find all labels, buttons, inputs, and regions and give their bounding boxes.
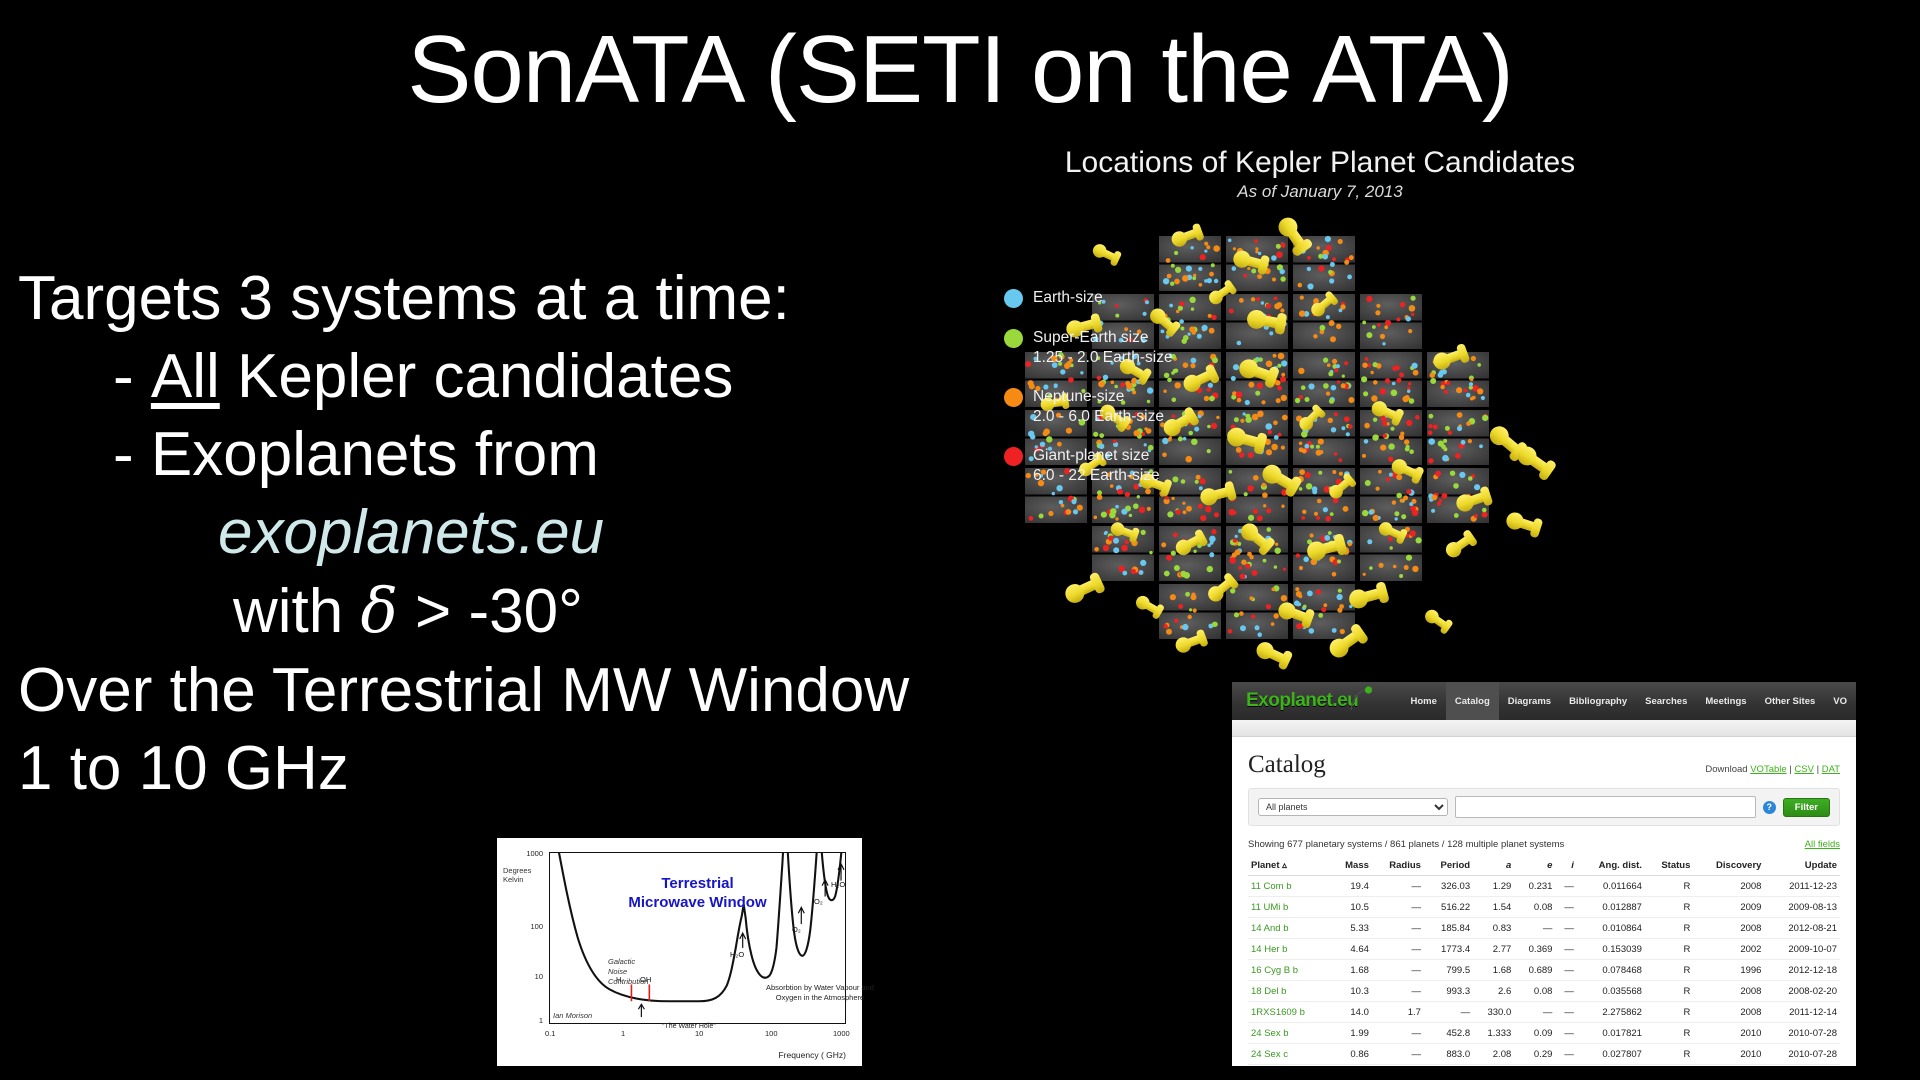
cell-value: — (1514, 918, 1555, 939)
legend-label-earth: Earth-size (1033, 288, 1103, 308)
x-tick-10: 10 (695, 1029, 703, 1038)
nav-item-other-sites[interactable]: Other Sites (1756, 682, 1825, 720)
x-tick-0.1: 0.1 (545, 1029, 555, 1038)
cell-value: — (1555, 1023, 1576, 1044)
y-tick-100: 100 (517, 922, 543, 931)
navbar-shadow (1232, 720, 1856, 737)
download-dat-link[interactable]: DAT (1822, 764, 1840, 775)
cell-value: 1.68 (1473, 960, 1514, 981)
col-planet[interactable]: Planet ▵ (1248, 856, 1331, 876)
cell-value: R (1645, 876, 1693, 897)
table-header-row: Planet ▵ Mass Radius Period a e i Ang. d… (1248, 856, 1840, 876)
planet-filter-select[interactable]: All planets (1258, 798, 1448, 816)
orbit-icon (1349, 686, 1375, 712)
terrestrial-microwave-window-chart: DegreesKelvin 1000 100 10 1 (497, 838, 862, 1066)
cell-value: 10.5 (1331, 897, 1372, 918)
cell-value: 452.8 (1424, 1023, 1473, 1044)
catalog-content: Catalog Download VOTable | CSV | DAT All… (1232, 737, 1856, 1065)
cell-value: 1773.4 (1424, 939, 1473, 960)
cell-value: R (1645, 939, 1693, 960)
results-summary-row: Showing 677 planetary systems / 861 plan… (1248, 839, 1840, 850)
cell-value: 2011-12-23 (1764, 876, 1840, 897)
all-fields-link[interactable]: All fields (1805, 839, 1840, 850)
x-tick-100: 100 (765, 1029, 778, 1038)
cell-value: 2010 (1693, 1023, 1764, 1044)
download-label: Download (1705, 764, 1747, 775)
delta-symbol: δ (360, 574, 397, 647)
help-icon[interactable]: ? (1763, 801, 1776, 814)
cell-value: R (1645, 1002, 1693, 1023)
annotation-h2o-22ghz: H₂O (730, 950, 744, 959)
chart-y-axis-label: DegreesKelvin (503, 866, 531, 885)
cell-value: 0.078468 (1577, 960, 1645, 981)
cell-value: 2010-07-28 (1764, 1044, 1840, 1065)
cell-planet-name[interactable]: 1RXS1609 b (1248, 1002, 1331, 1023)
cell-value: 1.7 (1372, 1002, 1424, 1023)
col-status[interactable]: Status (1645, 856, 1693, 876)
cell-value: — (1555, 918, 1576, 939)
legend-swatch-neptune (1004, 388, 1023, 407)
cell-value: R (1645, 1044, 1693, 1065)
annotation-water-hole: "The Water Hole" (662, 1023, 716, 1030)
cell-value: 993.3 (1424, 981, 1473, 1002)
cell-value: R (1645, 897, 1693, 918)
col-mass[interactable]: Mass (1331, 856, 1372, 876)
cell-value: R (1645, 918, 1693, 939)
legend-swatch-super-earth (1004, 329, 1023, 348)
col-ang-dist[interactable]: Ang. dist. (1577, 856, 1645, 876)
cell-value: — (1555, 1002, 1576, 1023)
annotation-absorption: Absorbtion by Water Vapour and Oxygen in… (764, 983, 876, 1003)
cell-value: 2009 (1693, 897, 1764, 918)
cell-value: — (1555, 981, 1576, 1002)
chart-credit: Ian Morison (553, 1011, 592, 1020)
filter-button[interactable]: Filter (1783, 798, 1830, 817)
cell-value: 2.77 (1473, 939, 1514, 960)
cell-value: — (1424, 1002, 1473, 1023)
cell-value: 1.99 (1331, 1023, 1372, 1044)
annotation-o2-118ghz: O₂ (814, 897, 823, 906)
cell-value: — (1555, 960, 1576, 981)
col-i[interactable]: i (1555, 856, 1576, 876)
col-period[interactable]: Period (1424, 856, 1473, 876)
cell-value: 2002 (1693, 939, 1764, 960)
cell-value: 799.5 (1424, 960, 1473, 981)
cell-planet-name[interactable]: 14 Her b (1248, 939, 1331, 960)
cell-value: 0.09 (1514, 1023, 1555, 1044)
kepler-legend: Earth-size Super-Earth size1.25 - 2.0 Ea… (1004, 288, 1194, 505)
cell-value: 0.86 (1331, 1044, 1372, 1065)
cell-value: 2.08 (1473, 1044, 1514, 1065)
cell-value: — (1372, 876, 1424, 897)
cell-value: — (1555, 1044, 1576, 1065)
download-row: Download VOTable | CSV | DAT (1705, 764, 1840, 779)
nav-item-catalog[interactable]: Catalog (1446, 682, 1499, 720)
cell-value: 2012-08-21 (1764, 918, 1840, 939)
col-update[interactable]: Update (1764, 856, 1840, 876)
cell-value: 1.333 (1473, 1023, 1514, 1044)
cell-value: 516.22 (1424, 897, 1473, 918)
cell-value: 2.275862 (1577, 1002, 1645, 1023)
table-row[interactable]: 24 Sex c0.86—883.02.080.29—0.027807R2010… (1248, 1044, 1840, 1065)
cell-value: 2010-07-28 (1764, 1023, 1840, 1044)
cell-value: 0.010864 (1577, 918, 1645, 939)
table-row[interactable]: 16 Cyg B b1.68—799.51.680.689—0.078468R1… (1248, 960, 1840, 981)
annotation-h2o-183ghz: H₂O (831, 880, 845, 889)
y-tick-1000: 1000 (517, 849, 543, 858)
cell-planet-name[interactable]: 14 And b (1248, 918, 1331, 939)
cell-value: 0.035568 (1577, 981, 1645, 1002)
filter-bar: All planets ? Filter (1248, 788, 1840, 826)
exoplanet-eu-logo[interactable]: Exoplanet.eu (1246, 690, 1358, 712)
cell-value: 2.6 (1473, 981, 1514, 1002)
cell-value: 0.027807 (1577, 1044, 1645, 1065)
nav-item-home[interactable]: Home (1402, 682, 1446, 720)
cell-value: 326.03 (1424, 876, 1473, 897)
cell-value: R (1645, 981, 1693, 1002)
page-title: SonATA (SETI on the ATA) (0, 22, 1920, 118)
cell-value: — (1372, 960, 1424, 981)
cell-value: — (1372, 918, 1424, 939)
cell-value: — (1372, 939, 1424, 960)
cell-value: 0.011664 (1577, 876, 1645, 897)
cell-value: 1.54 (1473, 897, 1514, 918)
legend-item-neptune: Neptune-size2.0 - 6.0 Earth-size (1004, 387, 1194, 426)
cell-value: 0.231 (1514, 876, 1555, 897)
site-navbar: Exoplanet.eu Home Catalog Diagrams Bibli… (1232, 682, 1856, 720)
nav-item-searches[interactable]: Searches (1636, 682, 1696, 720)
cell-value: 2009-10-07 (1764, 939, 1840, 960)
cell-value: 185.84 (1424, 918, 1473, 939)
cell-planet-name[interactable]: 16 Cyg B b (1248, 960, 1331, 981)
chart-plot-area: TerrestrialMicrowave Window GalacticNois… (549, 852, 846, 1024)
cell-value: 883.0 (1424, 1044, 1473, 1065)
cell-value: 19.4 (1331, 876, 1372, 897)
cell-value: 2008 (1693, 1002, 1764, 1023)
cell-planet-name[interactable]: 24 Sex c (1248, 1044, 1331, 1065)
nav-item-diagrams[interactable]: Diagrams (1499, 682, 1560, 720)
legend-label-neptune: Neptune-size2.0 - 6.0 Earth-size (1033, 387, 1164, 426)
cell-value: 0.017821 (1577, 1023, 1645, 1044)
table-row[interactable]: 11 UMi b10.5—516.221.540.08—0.012887R200… (1248, 897, 1840, 918)
table-row[interactable]: 18 Del b10.3—993.32.60.08—0.035568R20082… (1248, 981, 1840, 1002)
col-radius[interactable]: Radius (1372, 856, 1424, 876)
results-count-text: Showing 677 planetary systems / 861 plan… (1248, 839, 1564, 850)
cell-value: — (1372, 897, 1424, 918)
cell-value: 10.3 (1331, 981, 1372, 1002)
chart-title: TerrestrialMicrowave Window (550, 875, 845, 913)
col-e[interactable]: e (1514, 856, 1555, 876)
legend-item-giant: Giant-planet size6.0 - 22 Earth-size (1004, 446, 1194, 485)
annotation-h: H (616, 975, 621, 984)
nav-item-meetings[interactable]: Meetings (1696, 682, 1755, 720)
cell-value: 330.0 (1473, 1002, 1514, 1023)
download-csv-link[interactable]: CSV (1794, 764, 1814, 775)
y-tick-1: 1 (517, 1016, 543, 1025)
cell-value: 2008 (1693, 876, 1764, 897)
cell-value: 1.68 (1331, 960, 1372, 981)
cell-value: — (1514, 1002, 1555, 1023)
kepler-figure-subtitle: As of January 7, 2013 (990, 182, 1650, 202)
legend-item-earth: Earth-size (1004, 288, 1194, 308)
nav-item-bibliography[interactable]: Bibliography (1560, 682, 1636, 720)
col-discovery[interactable]: Discovery (1693, 856, 1764, 876)
chart-x-axis-label: Frequency ( GHz) (778, 1050, 846, 1060)
col-a[interactable]: a (1473, 856, 1514, 876)
cell-value: 0.08 (1514, 981, 1555, 1002)
cell-planet-name[interactable]: 11 Com b (1248, 876, 1331, 897)
table-row[interactable]: 1RXS1609 b14.01.7—330.0——2.275862R200820… (1248, 1002, 1840, 1023)
catalog-table: Planet ▵ Mass Radius Period a e i Ang. d… (1248, 856, 1840, 1065)
catalog-title: Catalog (1248, 751, 1326, 779)
cell-value: 4.64 (1331, 939, 1372, 960)
nav-links: Home Catalog Diagrams Bibliography Searc… (1402, 682, 1857, 720)
x-tick-1: 1 (621, 1029, 625, 1038)
cell-value: 0.83 (1473, 918, 1514, 939)
download-votable-link[interactable]: VOTable (1750, 764, 1786, 775)
cell-value: 2012-12-18 (1764, 960, 1840, 981)
cell-value: 1.29 (1473, 876, 1514, 897)
filter-search-input[interactable] (1455, 796, 1756, 818)
annotation-oh: OH (640, 975, 651, 984)
legend-item-super-earth: Super-Earth size1.25 - 2.0 Earth-size (1004, 328, 1194, 367)
slide-canvas: SonATA (SETI on the ATA) Targets 3 syste… (0, 0, 1920, 1080)
legend-label-giant: Giant-planet size6.0 - 22 Earth-size (1033, 446, 1160, 485)
legend-swatch-giant (1004, 447, 1023, 466)
cell-value: 0.153039 (1577, 939, 1645, 960)
cell-value: — (1372, 1044, 1424, 1065)
cell-value: R (1645, 960, 1693, 981)
cell-value: — (1555, 876, 1576, 897)
cell-value: — (1555, 897, 1576, 918)
cell-value: 0.08 (1514, 897, 1555, 918)
kepler-figure-title: Locations of Kepler Planet Candidates (990, 146, 1650, 180)
cell-value: — (1372, 981, 1424, 1002)
x-tick-1000: 1000 (833, 1029, 850, 1038)
legend-label-super-earth: Super-Earth size1.25 - 2.0 Earth-size (1033, 328, 1173, 367)
table-row[interactable]: 14 Her b4.64—1773.42.770.369—0.153039R20… (1248, 939, 1840, 960)
table-row[interactable]: 11 Com b19.4—326.031.290.231—0.011664R20… (1248, 876, 1840, 897)
y-tick-10: 10 (517, 972, 543, 981)
emphasis-all: All (151, 342, 220, 411)
table-row[interactable]: 24 Sex b1.99—452.81.3330.09—0.017821R201… (1248, 1023, 1840, 1044)
cell-value: 2008 (1693, 918, 1764, 939)
catalog-header: Catalog Download VOTable | CSV | DAT (1248, 751, 1840, 779)
nav-item-vo[interactable]: VO (1824, 682, 1856, 720)
cell-planet-name[interactable]: 18 Del b (1248, 981, 1331, 1002)
cell-value: 0.29 (1514, 1044, 1555, 1065)
cell-value: 2008 (1693, 981, 1764, 1002)
logo-text: Exoplanet.eu (1246, 690, 1358, 711)
cell-value: 5.33 (1331, 918, 1372, 939)
cell-value: 0.689 (1514, 960, 1555, 981)
cell-value: — (1555, 939, 1576, 960)
legend-swatch-earth (1004, 289, 1023, 308)
kepler-candidates-figure: Locations of Kepler Planet Candidates As… (990, 140, 1650, 670)
cell-value: 2010 (1693, 1044, 1764, 1065)
cell-value: 2008-02-20 (1764, 981, 1840, 1002)
cell-planet-name[interactable]: 24 Sex b (1248, 1023, 1331, 1044)
cell-value: 14.0 (1331, 1002, 1372, 1023)
cell-planet-name[interactable]: 11 UMi b (1248, 897, 1331, 918)
cell-value: 2011-12-14 (1764, 1002, 1840, 1023)
cell-value: 0.012887 (1577, 897, 1645, 918)
cell-value: 0.369 (1514, 939, 1555, 960)
annotation-o2-60ghz: O₂ (792, 925, 801, 934)
table-row[interactable]: 14 And b5.33—185.840.83——0.010864R200820… (1248, 918, 1840, 939)
body-line-7: 1 to 10 GHz (18, 730, 1218, 808)
exoplanet-eu-catalog-panel[interactable]: Exoplanet.eu Home Catalog Diagrams Bibli… (1232, 682, 1856, 1066)
catalog-table-body: 11 Com b19.4—326.031.290.231—0.011664R20… (1248, 876, 1840, 1065)
cell-value: — (1372, 1023, 1424, 1044)
cell-value: 1996 (1693, 960, 1764, 981)
cell-value: 2009-08-13 (1764, 897, 1840, 918)
cell-value: R (1645, 1023, 1693, 1044)
